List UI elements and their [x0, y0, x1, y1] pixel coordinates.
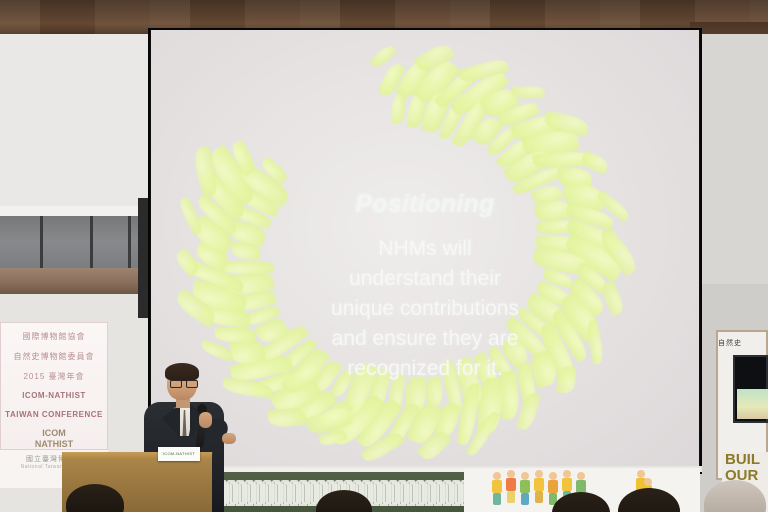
- speaker-hair: [165, 363, 199, 381]
- chair: [377, 484, 386, 502]
- slide-body-line-5: recognized for it.: [151, 354, 699, 384]
- mural-child-shirt: [562, 478, 572, 491]
- chair: [440, 484, 449, 502]
- rail-post: [40, 216, 43, 268]
- mural-cyclist-head: [644, 478, 652, 486]
- balcony-rail-top: [0, 206, 150, 216]
- mural-child-head: [637, 470, 645, 478]
- chair: [449, 484, 458, 502]
- mural-child-shirt: [520, 480, 530, 493]
- mural-child-figure: [492, 480, 502, 506]
- chair: [395, 484, 404, 502]
- chair: [305, 484, 314, 502]
- slide-body-text: NHMs will understand their unique contri…: [151, 234, 699, 384]
- slide-body-line-1: NHMs will: [151, 234, 699, 264]
- mural-child-shirt: [492, 480, 502, 493]
- chair: [224, 484, 233, 502]
- mural-child-pants: [521, 493, 529, 505]
- rail-post: [128, 216, 131, 268]
- monitor-screen-image: [737, 389, 768, 419]
- mural-child-figure: [506, 478, 516, 504]
- speaker-hand-holding-mic: [199, 412, 212, 428]
- chair: [413, 484, 422, 502]
- poster-cn-line-2: 自然史博物館委員會: [0, 342, 108, 362]
- icom-nathist-logo: ICOM NATHIST: [27, 428, 81, 450]
- speaker-name-card: ICOM-NATHIST: [158, 447, 200, 461]
- poster-cn-line-1: 國際博物館協會: [0, 322, 108, 342]
- chair: [269, 484, 278, 502]
- chair: [233, 484, 242, 502]
- slide-body-line-2: understand their: [151, 264, 699, 294]
- mural-child-head: [521, 472, 529, 480]
- mural-child-shirt: [534, 478, 544, 491]
- chair: [287, 484, 296, 502]
- wreath-leaf: [512, 86, 545, 100]
- mural-child-pants: [493, 493, 501, 505]
- chair: [296, 484, 305, 502]
- right-poster-caption: 自然史: [718, 338, 768, 348]
- mural-child-head: [549, 472, 557, 480]
- mural-child-head: [507, 470, 515, 478]
- mural-child-head: [535, 470, 543, 478]
- poster-en-line-2: TAIWAN CONFERENCE: [0, 401, 108, 420]
- presentation-photo-scene: Positioning NHMs will understand their u…: [0, 0, 768, 512]
- poster-cn-line-3: 2015 臺灣年會: [0, 362, 108, 382]
- mural-child-head: [577, 472, 585, 480]
- slide-body-line-4: and ensure they are: [151, 324, 699, 354]
- eyeglasses-icon: [170, 380, 196, 386]
- rail-post: [90, 216, 93, 268]
- banner-line-1: BUIL: [722, 452, 768, 468]
- mural-child-shirt: [506, 478, 516, 491]
- chair: [404, 484, 413, 502]
- chair: [422, 484, 431, 502]
- wall-left-upper: [0, 34, 152, 214]
- mural-child-figure: [520, 480, 530, 506]
- projection-screen: Positioning NHMs will understand their u…: [151, 30, 699, 472]
- slide-body-line-3: unique contributions: [151, 294, 699, 324]
- wreath-leaf: [267, 406, 307, 428]
- mural-child-figure: [534, 478, 544, 504]
- name-card-text: ICOM-NATHIST: [158, 447, 200, 456]
- chair: [386, 484, 395, 502]
- logo-line-2: NATHIST: [27, 439, 81, 450]
- balcony-wood-ledge: [0, 268, 150, 294]
- chair: [251, 484, 260, 502]
- poster-en-line-1: ICOM-NATHIST: [0, 382, 108, 401]
- mural-child-shirt: [548, 480, 558, 493]
- conference-poster: 國際博物館協會 自然史博物館委員會 2015 臺灣年會 ICOM-NATHIST…: [0, 322, 108, 450]
- chair: [431, 484, 440, 502]
- wreath-leaf: [392, 95, 406, 124]
- chair: [242, 484, 251, 502]
- mural-child-pants: [507, 491, 515, 503]
- wall-right-upper: [700, 34, 768, 284]
- speaker-hand-gesturing: [222, 433, 236, 444]
- mural-child-head: [493, 472, 501, 480]
- slide-title: Positioning: [151, 190, 699, 219]
- chair: [278, 484, 287, 502]
- wreath-leaf: [516, 391, 541, 432]
- logo-line-1: ICOM: [27, 428, 81, 439]
- chair: [368, 484, 377, 502]
- chair: [260, 484, 269, 502]
- mural-child-head: [563, 470, 571, 478]
- mural-child-pants: [535, 491, 543, 503]
